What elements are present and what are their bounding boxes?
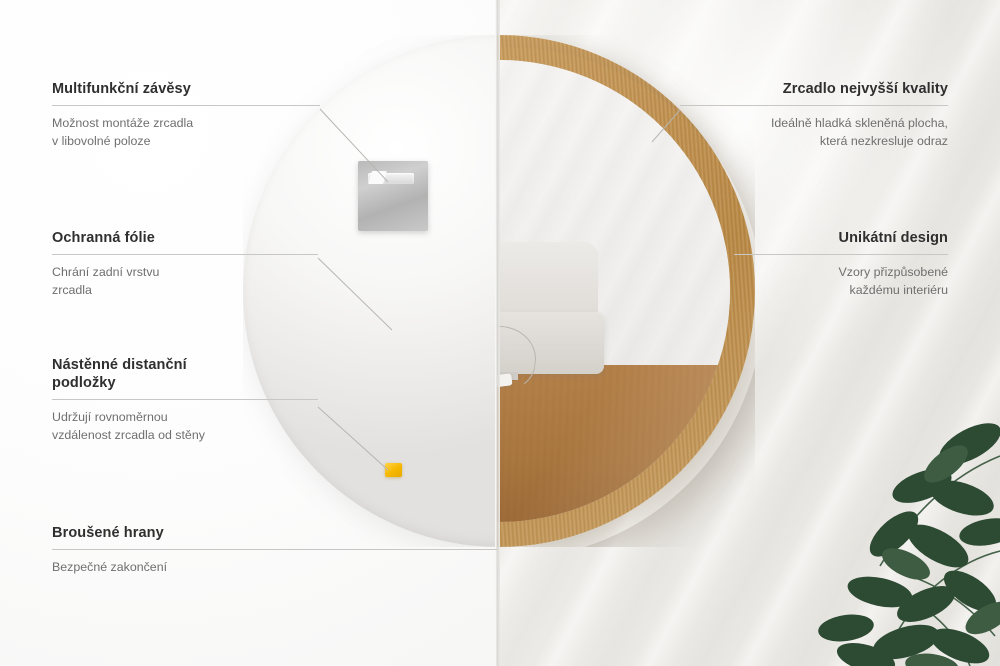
callout-title: Zrcadlo nejvyšší kvality (680, 80, 948, 98)
callout-description: Chrání zadní vrstvu zrcadla (52, 264, 318, 299)
callout-description: Udržují rovnoměrnou vzdálenost zrcadla o… (52, 409, 318, 444)
yellow-spacer-pad (385, 463, 402, 477)
callout-title: Broušené hrany (52, 524, 497, 542)
callout-description: Bezpečné zakončení (52, 559, 497, 577)
foliage-decoration (670, 336, 1000, 666)
callout-nastenne-distancni-podlozky: Nástěnné distanční podložky Udržují rovn… (52, 356, 318, 444)
hanger-bracket (358, 161, 428, 231)
callout-zrcadlo-nejvyssi-kvality: Zrcadlo nejvyšší kvality Ideálně hladká … (680, 80, 948, 150)
callout-rule (52, 399, 318, 400)
callout-rule (680, 105, 948, 106)
callout-unikatni-design: Unikátní design Vzory přizpůsobené každé… (734, 229, 948, 299)
callout-brousene-hrany: Broušené hrany Bezpečné zakončení (52, 524, 497, 577)
callout-title: Ochranná fólie (52, 229, 318, 247)
callout-rule (52, 549, 497, 550)
callout-description: Ideálně hladká skleněná plocha, která ne… (680, 115, 948, 150)
callout-description: Možnost montáže zrcadla v libovolné polo… (52, 115, 320, 150)
callout-rule (52, 105, 320, 106)
product-infographic: Multifunkční závěsy Možnost montáže zrca… (0, 0, 1000, 666)
callout-multifunkcni-zavesy: Multifunkční závěsy Možnost montáže zrca… (52, 80, 320, 150)
callout-title: Unikátní design (734, 229, 948, 247)
callout-title: Multifunkční závěsy (52, 80, 320, 98)
callout-description: Vzory přizpůsobené každému interiéru (734, 264, 948, 299)
callout-title: Nástěnné distanční podložky (52, 356, 318, 392)
callout-ochranna-folie: Ochranná fólie Chrání zadní vrstvu zrcad… (52, 229, 318, 299)
callout-rule (52, 254, 318, 255)
callout-rule (734, 254, 948, 255)
